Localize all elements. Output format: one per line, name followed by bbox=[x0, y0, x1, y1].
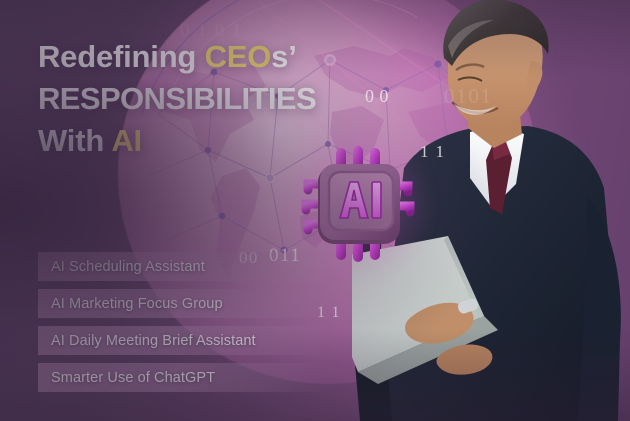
list-item[interactable]: Smarter Use of ChatGPT bbox=[38, 363, 328, 392]
list-item[interactable]: AI Scheduling Assistant bbox=[38, 252, 328, 281]
list-item-label: AI Daily Meeting Brief Assistant bbox=[51, 333, 256, 349]
page-title: Redefining CEOs’ RESPONSIBILITIES With A… bbox=[38, 36, 368, 162]
headline-line-1: Redefining CEOs’ bbox=[38, 36, 368, 78]
binary-digit: 1 1 bbox=[420, 142, 445, 162]
headline-line-3: With AI bbox=[38, 120, 368, 162]
list-item[interactable]: AI Daily Meeting Brief Assistant bbox=[38, 326, 328, 355]
headline-line-2: RESPONSIBILITIES bbox=[38, 78, 368, 120]
list-item-label: AI Scheduling Assistant bbox=[51, 259, 205, 275]
ai-ceo-banner: 0 1 0 1 0101 00 1 1 00 011 1 1 Redefinin… bbox=[0, 0, 630, 421]
feature-list: AI Scheduling Assistant AI Marketing Foc… bbox=[38, 252, 328, 392]
list-item[interactable]: AI Marketing Focus Group bbox=[38, 289, 328, 318]
binary-digit: 00 bbox=[365, 86, 394, 107]
headline-text: With bbox=[38, 123, 111, 158]
headline-text: Redefining bbox=[38, 39, 205, 74]
headline-text: s’ bbox=[271, 39, 296, 74]
list-item-label: Smarter Use of ChatGPT bbox=[51, 370, 215, 386]
binary-digit: 0101 bbox=[444, 84, 493, 109]
headline-accent-ceo: CEO bbox=[205, 39, 272, 74]
headline-accent-ai: AI bbox=[111, 123, 142, 158]
list-item-label: AI Marketing Focus Group bbox=[51, 296, 223, 312]
